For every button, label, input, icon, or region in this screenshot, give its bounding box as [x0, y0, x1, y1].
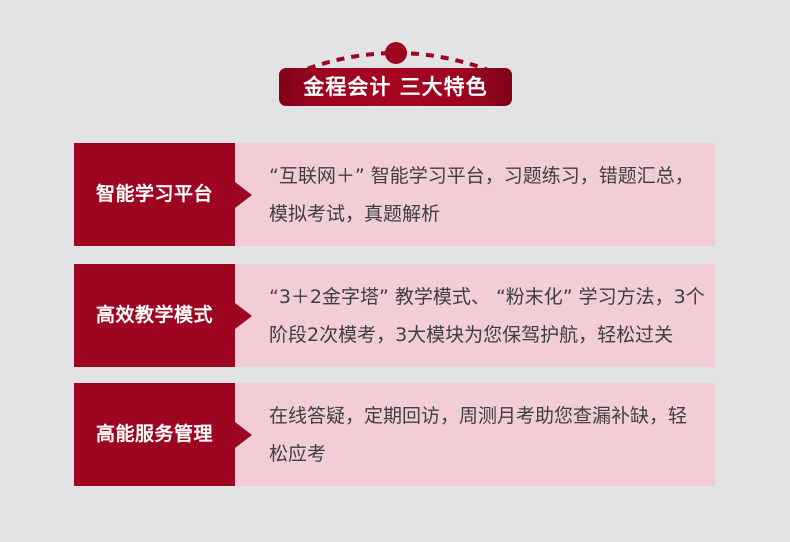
feature-label-text: 高能服务管理: [96, 425, 213, 444]
feature-description-text: “互联网＋” 智能学习平台，习题练习，错题汇总，模拟考试，真题解析: [269, 157, 705, 233]
feature-label-block: 高效教学模式: [74, 264, 235, 367]
feature-description-text: 在线答疑，定期回访，周测月考助您查漏补缺，轻松应考: [269, 397, 705, 473]
arrow-right-icon: [235, 182, 252, 208]
feature-label-text: 高效教学模式: [96, 306, 213, 325]
title-banner: 金程会计 三大特色: [279, 68, 512, 106]
page-title: 金程会计 三大特色: [303, 77, 487, 98]
arrow-right-icon: [235, 422, 252, 448]
feature-row: 高效教学模式 “3＋2金字塔” 教学模式、 “粉末化” 学习方法，3个阶段2次模…: [74, 264, 715, 367]
feature-body-panel: “3＋2金字塔” 教学模式、 “粉末化” 学习方法，3个阶段2次模考，3大模块为…: [235, 264, 715, 367]
feature-row: 智能学习平台 “互联网＋” 智能学习平台，习题练习，错题汇总，模拟考试，真题解析: [74, 143, 715, 246]
feature-label-text: 智能学习平台: [96, 185, 213, 204]
arrow-right-icon: [235, 303, 252, 329]
feature-body-panel: “互联网＋” 智能学习平台，习题练习，错题汇总，模拟考试，真题解析: [235, 143, 715, 246]
arc-dot-icon: [385, 42, 407, 64]
feature-label-block: 高能服务管理: [74, 383, 235, 486]
header-section: 金程会计 三大特色: [0, 0, 790, 130]
feature-description-text: “3＋2金字塔” 教学模式、 “粉末化” 学习方法，3个阶段2次模考，3大模块为…: [269, 278, 705, 354]
feature-body-panel: 在线答疑，定期回访，周测月考助您查漏补缺，轻松应考: [235, 383, 715, 486]
feature-row: 高能服务管理 在线答疑，定期回访，周测月考助您查漏补缺，轻松应考: [74, 383, 715, 486]
feature-label-block: 智能学习平台: [74, 143, 235, 246]
